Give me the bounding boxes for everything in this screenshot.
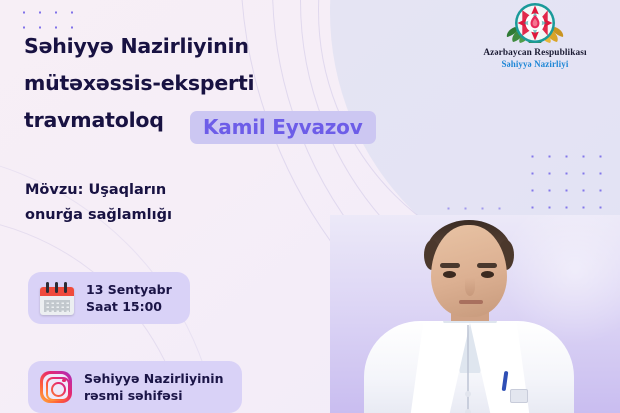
doctor-mouth	[459, 300, 483, 304]
instagram-pill-line-1: Səhiyyə Nazirliyinin	[84, 370, 224, 387]
doctor-nose	[465, 278, 475, 296]
instagram-pill[interactable]: Səhiyyə Nazirliyinin rəsmi səhifəsi	[28, 361, 242, 413]
headline-line-2: mütəxəssis-eksperti	[24, 65, 324, 102]
date-pill-text: 13 Sentyabr Saat 15:00	[86, 281, 172, 315]
instagram-icon-lens	[51, 382, 66, 397]
calendar-ring-3	[64, 282, 67, 293]
calendar-grid	[44, 300, 70, 312]
doctor-eye-left	[443, 271, 456, 278]
instagram-pill-text: Səhiyyə Nazirliyinin rəsmi səhifəsi	[84, 370, 224, 404]
headline-line-1: Səhiyyə Nazirliyinin	[24, 28, 324, 65]
poster-canvas: Səhiyyə Nazirliyinin mütəxəssis-eksperti…	[0, 0, 620, 413]
instagram-icon[interactable]	[40, 371, 72, 403]
calendar-ring-2	[55, 282, 58, 293]
instagram-icon-dot	[62, 379, 65, 382]
doctor-eyebrow-right	[477, 263, 497, 268]
subject-text: Mövzu: Uşaqların onurğa sağlamlığı	[25, 178, 275, 228]
subject-line-1: Mövzu: Uşaqların	[25, 178, 275, 203]
ministry-emblem-title: Azərbaycan Respublikası	[465, 48, 605, 59]
date-pill-line-1: 13 Sentyabr	[86, 281, 172, 298]
instagram-pill-line-2: rəsmi səhifəsi	[84, 387, 224, 404]
doctor-illustration	[364, 221, 574, 413]
date-pill: 13 Sentyabr Saat 15:00	[28, 272, 190, 324]
doctor-coat-button-1	[465, 391, 471, 397]
speaker-photo	[330, 215, 620, 413]
speaker-name-badge: Kamil Eyvazov	[190, 111, 376, 144]
doctor-coat-button-2	[465, 409, 471, 413]
ministry-emblem-block: Azərbaycan Respublikası Səhiyyə Nazirliy…	[465, 2, 605, 70]
azerbaijan-coat-of-arms-icon	[465, 2, 605, 44]
doctor-coat-seam	[467, 325, 469, 413]
calendar-icon	[40, 282, 74, 315]
doctor-eye-right	[481, 271, 494, 278]
date-pill-line-2: Saat 15:00	[86, 298, 172, 315]
ministry-emblem-subtitle: Səhiyyə Nazirliyi	[465, 59, 605, 70]
subject-line-2: onurğa sağlamlığı	[25, 203, 275, 228]
calendar-ring-1	[46, 282, 49, 293]
doctor-pocket-badge	[510, 389, 528, 403]
doctor-eyebrow-left	[440, 263, 460, 268]
